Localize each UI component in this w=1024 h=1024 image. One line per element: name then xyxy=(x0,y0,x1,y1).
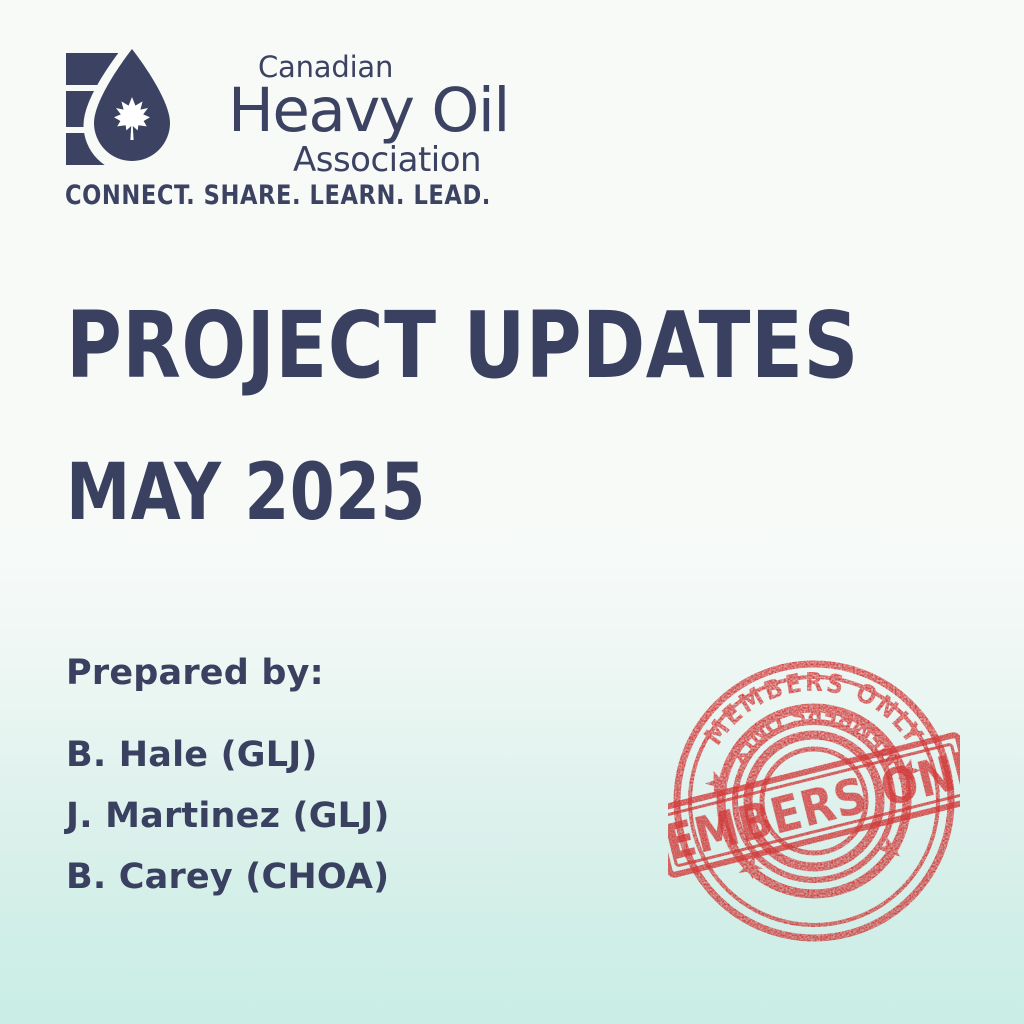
credit-author-2: J. Martinez (GLJ) xyxy=(66,799,586,834)
page-subtitle-date: MAY 2025 xyxy=(66,454,765,532)
stamp-banner-text: MEMBERS ONLY xyxy=(668,732,960,883)
choa-oil-barrel-drop-maple-leaf-logo xyxy=(60,45,188,173)
members-only-stamp: MEMBERS ONLY MEMBERS ONLY xyxy=(668,655,960,947)
title-slide: Canadian Heavy Oil Association CONNECT. … xyxy=(0,0,1024,1024)
logo-tagline: CONNECT. SHARE. LEARN. LEAD. xyxy=(65,180,491,211)
prepared-by-label: Prepared by: xyxy=(66,656,586,691)
credits-block: Prepared by: B. Hale (GLJ) J. Martinez (… xyxy=(66,656,586,895)
wordmark-line-association: Association xyxy=(293,143,481,177)
choa-wordmark: Canadian Heavy Oil Association xyxy=(228,42,478,177)
credit-author-3: B. Carey (CHOA) xyxy=(66,860,586,895)
credit-author-1: B. Hale (GLJ) xyxy=(66,738,586,773)
page-title: PROJECT UPDATES xyxy=(66,300,765,392)
headline-block: PROJECT UPDATES MAY 2025 xyxy=(66,300,826,532)
wordmark-line-heavy-oil: Heavy Oil xyxy=(228,80,509,141)
choa-logo: Canadian Heavy Oil Association CONNECT. … xyxy=(60,42,480,222)
